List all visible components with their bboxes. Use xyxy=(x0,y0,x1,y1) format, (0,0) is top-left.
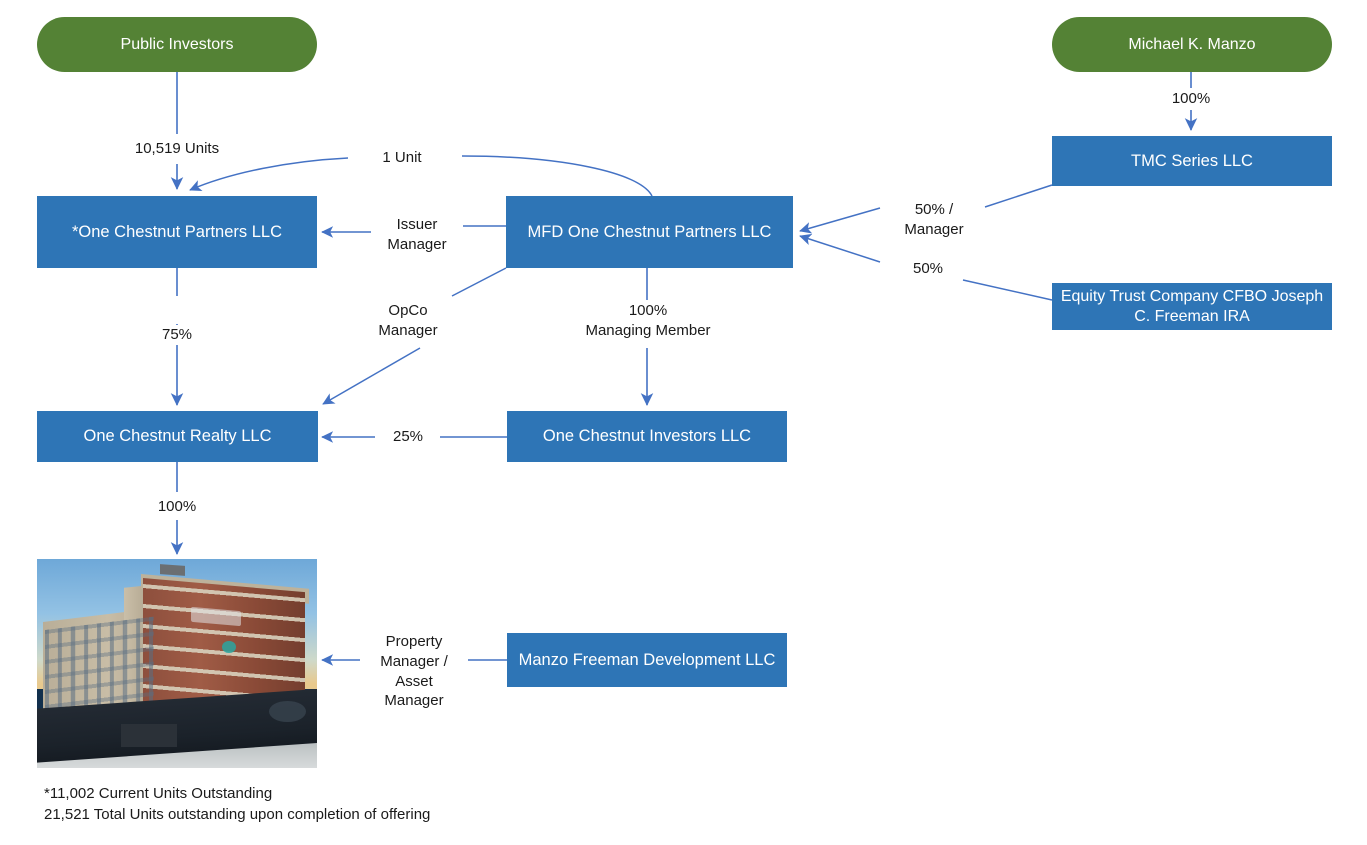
node-one-chestnut-realty[interactable]: One Chestnut Realty LLC xyxy=(37,411,318,462)
node-label: Michael K. Manzo xyxy=(1058,35,1326,55)
node-public-investors[interactable]: Public Investors xyxy=(37,17,317,72)
node-mfd-one-chestnut-partners[interactable]: MFD One Chestnut Partners LLC xyxy=(506,196,793,268)
photo-dumpster xyxy=(121,724,177,747)
node-equity-trust[interactable]: Equity Trust Company CFBO Joseph C. Free… xyxy=(1052,283,1332,330)
edge-label-investors-to-realty: 25% xyxy=(378,427,438,447)
edge-label-public-to-partners: 10,519 Units xyxy=(117,139,237,159)
node-michael-manzo[interactable]: Michael K. Manzo xyxy=(1052,17,1332,72)
photo-teal-accent xyxy=(222,641,236,654)
node-label: One Chestnut Investors LLC xyxy=(513,426,781,446)
photo-round-sign xyxy=(269,701,305,722)
edge-label-manzo-to-tmc: 100% xyxy=(1151,89,1231,109)
edge-label-mfdev-to-property: Property Manager / Asset Manager xyxy=(360,632,468,711)
footnote-line-1: *11,002 Current Units Outstanding xyxy=(44,783,272,804)
node-label: TMC Series LLC xyxy=(1058,151,1326,171)
edge-label-mfd-to-partners-issuer: Issuer Manager xyxy=(371,215,463,255)
node-label: *One Chestnut Partners LLC xyxy=(43,222,311,242)
node-one-chestnut-partners[interactable]: *One Chestnut Partners LLC xyxy=(37,196,317,268)
node-manzo-freeman-development[interactable]: Manzo Freeman Development LLC xyxy=(507,633,787,687)
node-label: MFD One Chestnut Partners LLC xyxy=(512,222,787,242)
node-label: Manzo Freeman Development LLC xyxy=(513,650,781,670)
node-tmc-series[interactable]: TMC Series LLC xyxy=(1052,136,1332,186)
edge-label-tmc-to-mfd: 50% / Manager xyxy=(888,200,980,240)
footnote-line-2: 21,521 Total Units outstanding upon comp… xyxy=(44,804,430,825)
node-label: One Chestnut Realty LLC xyxy=(43,426,312,446)
node-one-chestnut-investors[interactable]: One Chestnut Investors LLC xyxy=(507,411,787,462)
property-photo xyxy=(37,559,317,768)
edge-label-equity-to-mfd: 50% xyxy=(888,259,968,279)
edge-label-realty-to-property: 100% xyxy=(137,497,217,517)
edge-label-mfd-to-investors: 100% Managing Member xyxy=(562,301,734,341)
edge-label-mfd-to-partners-unit: 1 Unit xyxy=(357,148,447,168)
org-chart-canvas: Public Investors Michael K. Manzo TMC Se… xyxy=(0,0,1367,845)
node-label: Public Investors xyxy=(43,35,311,55)
photo-roof-antenna xyxy=(160,564,185,576)
edge-label-partners-to-realty: 75% xyxy=(137,325,217,345)
node-label: Equity Trust Company CFBO Joseph C. Free… xyxy=(1058,287,1326,326)
edge-label-mfd-to-realty-opco: OpCo Manager xyxy=(362,301,454,341)
